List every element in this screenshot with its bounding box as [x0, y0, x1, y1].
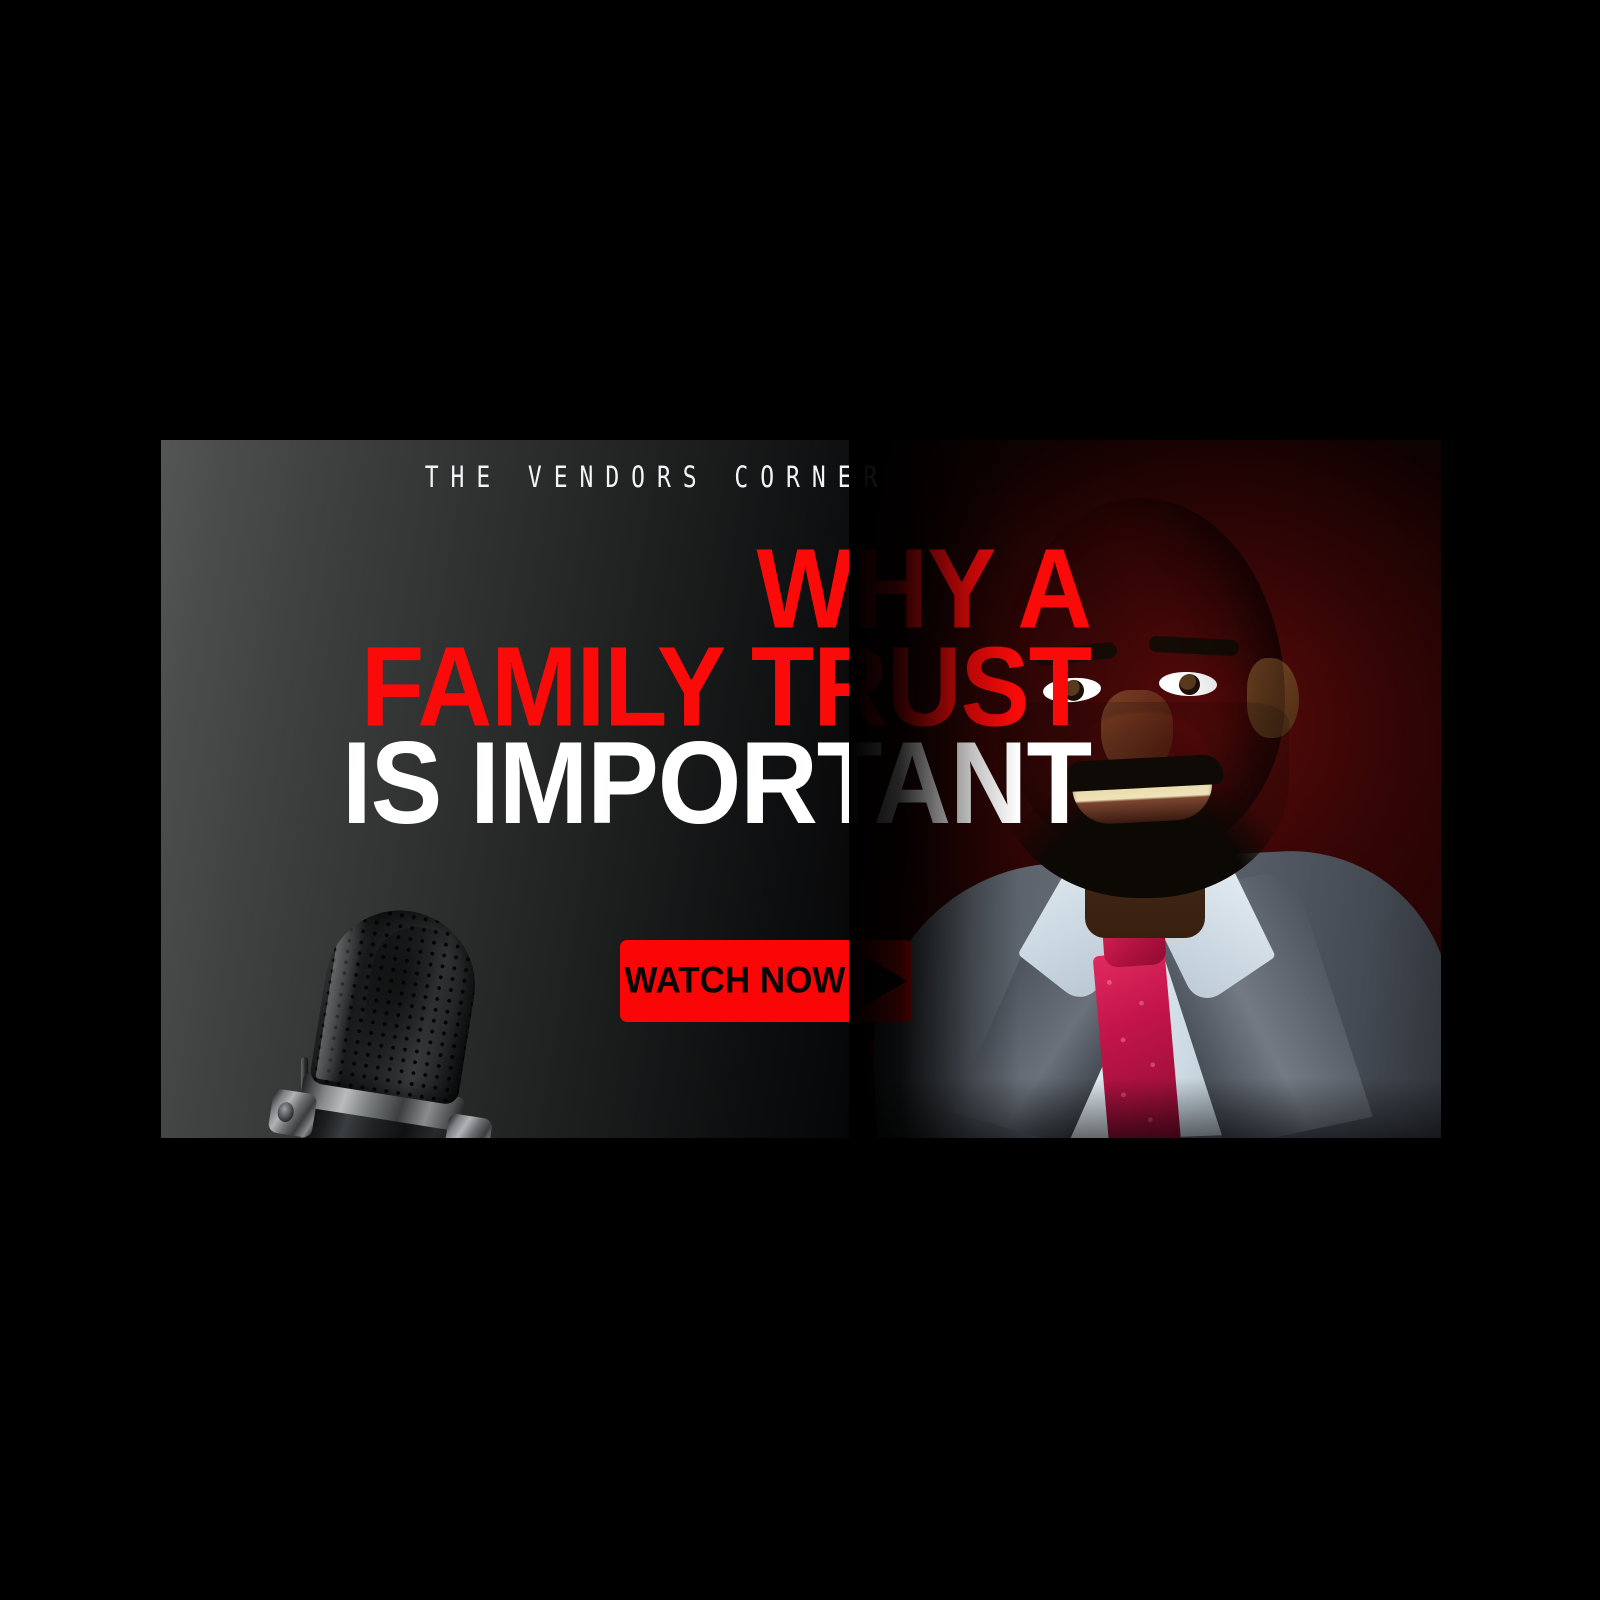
portrait-left-fade: [849, 440, 1019, 1138]
microphone-mount-knob-left: [267, 1088, 317, 1138]
page-canvas: THE VENDORS CORNER WHY A FAMILY TRUST IS…: [0, 0, 1600, 1600]
microphone-grille: [309, 900, 486, 1106]
microphone-grille-shading: [354, 920, 470, 1092]
watch-now-label: WATCH NOW: [625, 960, 846, 1002]
video-thumbnail-card[interactable]: THE VENDORS CORNER WHY A FAMILY TRUST IS…: [161, 440, 1441, 1138]
microphone-mount-knob-right: [443, 1113, 493, 1138]
portrait-bottom-fade: [849, 1078, 1441, 1138]
studio-microphone-icon: [270, 895, 535, 1138]
presenter-portrait: [849, 440, 1441, 1138]
